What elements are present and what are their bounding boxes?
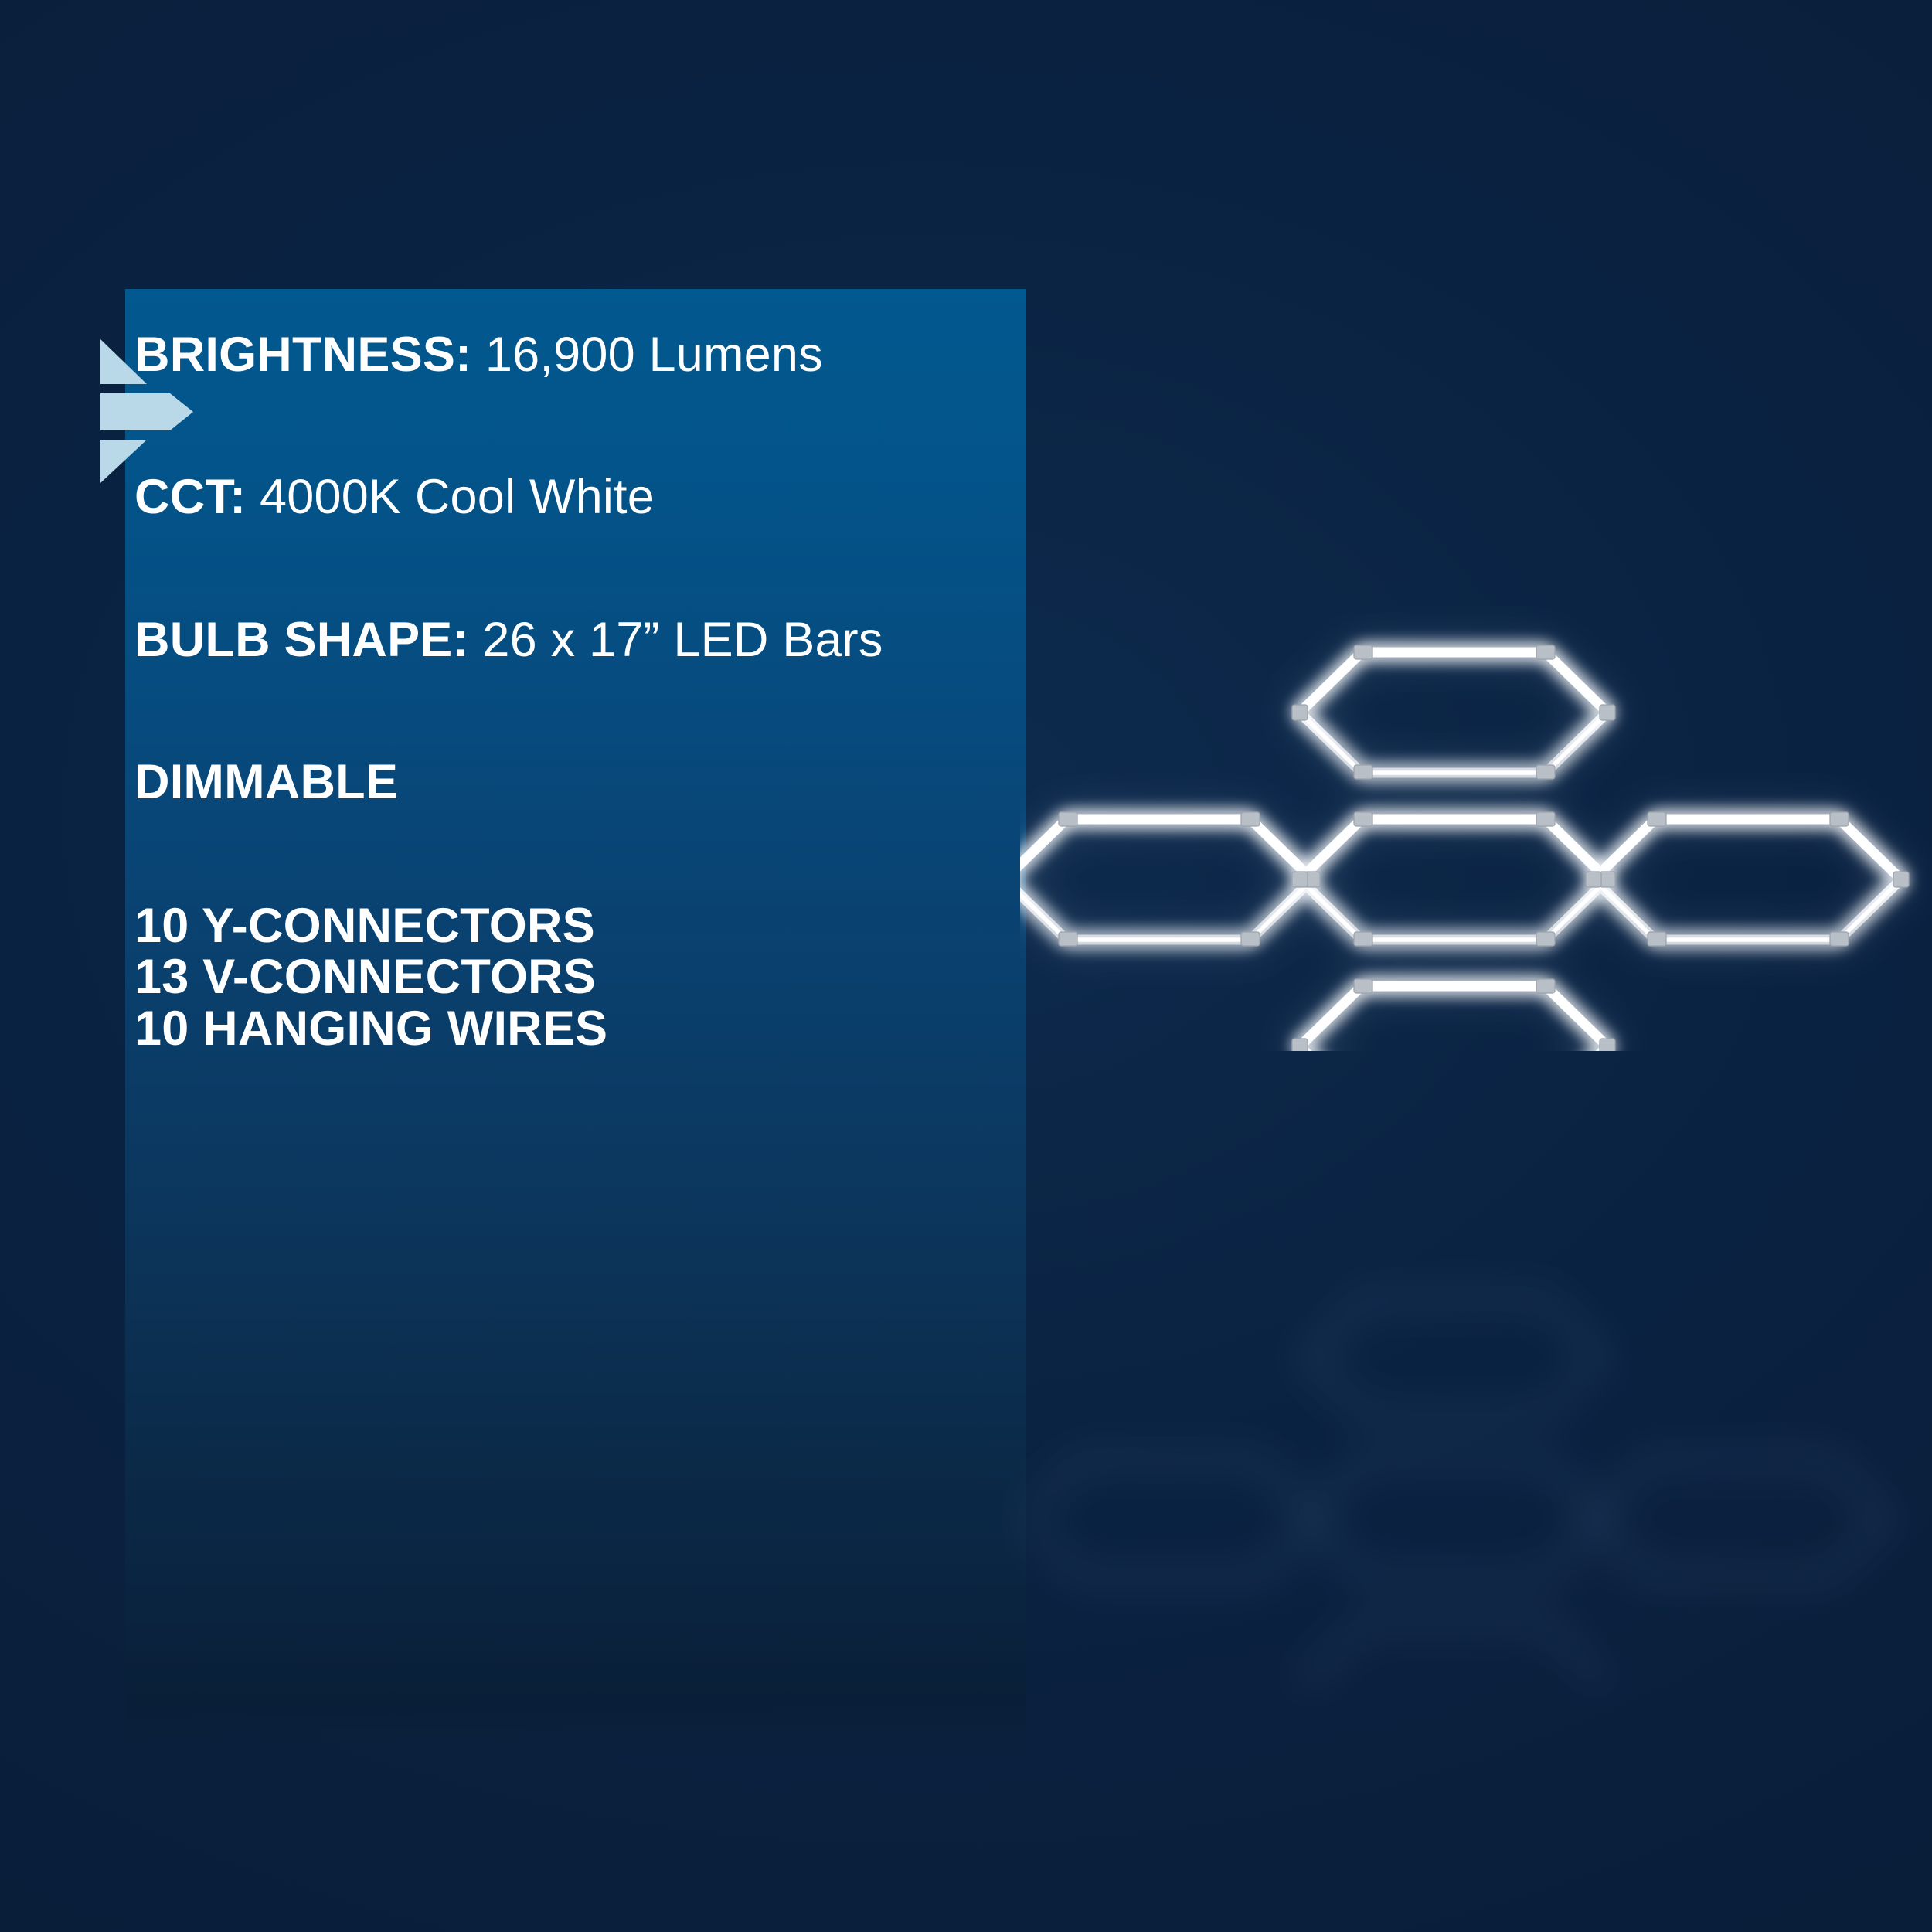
included-item-v-connectors: 13 V-CONNECTORS (134, 952, 969, 1002)
spacer (134, 808, 969, 901)
spacer (134, 665, 969, 757)
spec-brightness: BRIGHTNESS: 16,900 Lumens (134, 329, 969, 381)
spec-dimmable: DIMMABLE (134, 757, 969, 808)
spec-cct-value: 4000K Cool White (246, 470, 655, 524)
included-item-y-connectors: 10 Y-CONNECTORS (134, 901, 969, 951)
included-item-hanging-wires: 10 HANGING WIRES (134, 1004, 969, 1053)
spec-bulb-shape: BULB SHAPE: 26 x 17” LED Bars (134, 614, 969, 666)
product-spec-graphic: BRIGHTNESS: 16,900 Lumens CCT: 4000K Coo… (0, 0, 1932, 1932)
spec-cct: CCT: 4000K Cool White (134, 471, 969, 523)
included-accessories-list: 10 Y-CONNECTORS 13 V-CONNECTORS 10 HANGI… (134, 901, 969, 1053)
spacer (134, 523, 969, 614)
spec-brightness-value: 16,900 Lumens (471, 328, 823, 382)
spec-bulb-shape-label: BULB SHAPE: (134, 613, 469, 667)
spacer (134, 381, 969, 471)
spec-list: BRIGHTNESS: 16,900 Lumens CCT: 4000K Coo… (134, 329, 969, 1055)
arrow-right-icon (99, 338, 199, 485)
fixture-ambient-glow (1020, 652, 1901, 1051)
hexagon-led-light-grid (1020, 572, 1932, 1051)
spec-panel: BRIGHTNESS: 16,900 Lumens CCT: 4000K Coo… (125, 289, 1026, 1757)
fixture-reflection (1028, 1221, 1932, 1685)
spec-bulb-shape-value: 26 x 17” LED Bars (469, 613, 883, 667)
